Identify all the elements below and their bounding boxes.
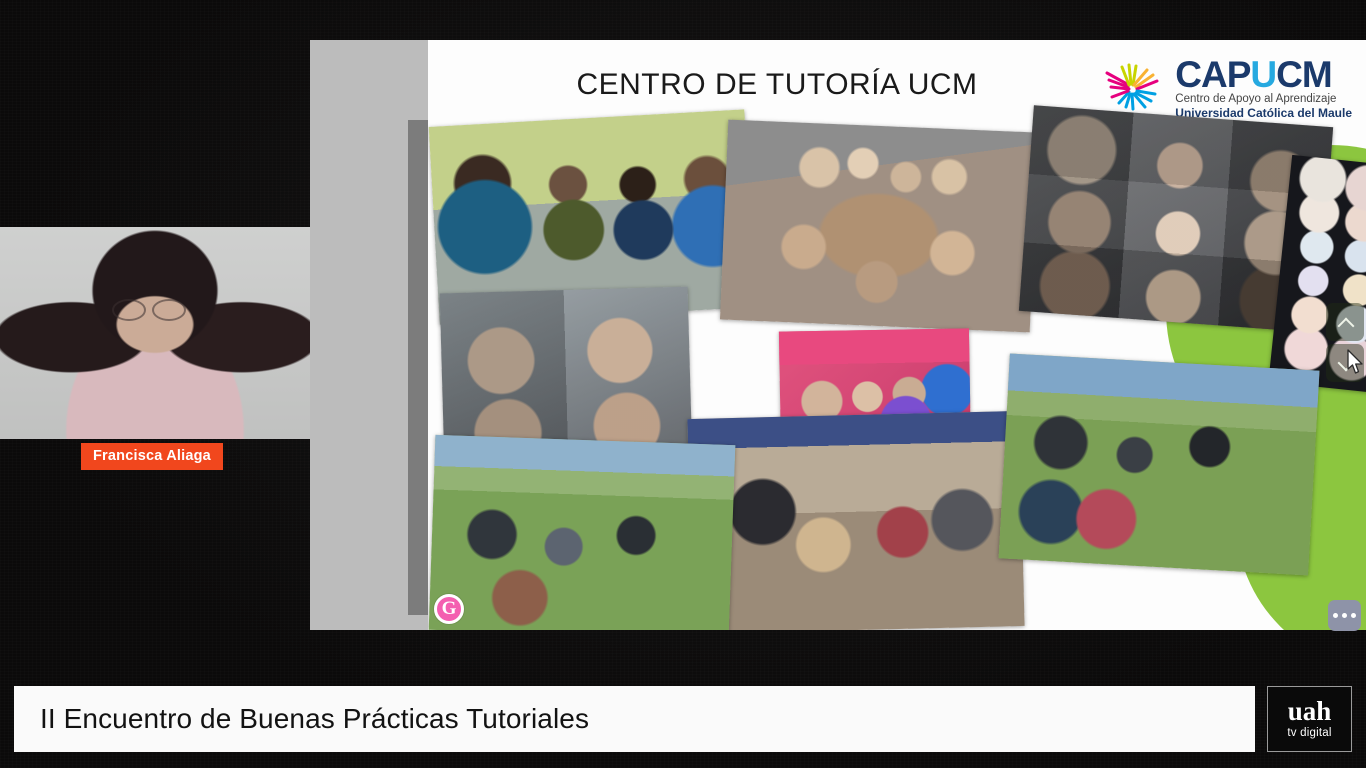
dot-2-icon xyxy=(1342,613,1347,618)
slide-title-text: CENTRO DE TUTORÍA UCM xyxy=(576,68,977,102)
capucm-word-cap: CAP xyxy=(1175,54,1250,95)
capucm-word-cm: CM xyxy=(1276,54,1332,95)
uah-subtitle: tv digital xyxy=(1287,727,1331,739)
uah-wordmark: uah xyxy=(1288,699,1332,725)
capucm-mark-icon xyxy=(1103,61,1165,113)
scroll-down-button[interactable] xyxy=(1326,344,1364,382)
chevron-up-icon xyxy=(1338,315,1353,330)
webcam-video-frame xyxy=(0,227,310,439)
collage-photo-campus-lawn-2 xyxy=(429,435,736,630)
more-options-button[interactable] xyxy=(1328,600,1361,631)
slide-canvas: CENTRO DE TUTORÍA UCM xyxy=(428,40,1366,630)
collage-photo-floor-activity xyxy=(720,120,1038,333)
capucm-word-u: U xyxy=(1250,54,1276,95)
capucm-logo: CAPUCM Centro de Apoyo al Aprendizaje Un… xyxy=(1103,56,1352,119)
banner-title-text: II Encuentro de Buenas Prácticas Tutoria… xyxy=(14,703,589,735)
glasses-left-icon xyxy=(112,299,146,321)
participant-name-badge: Francisca Aliaga xyxy=(81,443,223,470)
collage-photo-campus-lawn-1 xyxy=(999,354,1320,576)
uah-tv-digital-logo: uah tv digital xyxy=(1267,686,1352,752)
chevron-down-icon xyxy=(1338,356,1353,371)
webcam-tile-francisca-aliaga[interactable] xyxy=(0,227,310,439)
scroll-up-button[interactable] xyxy=(1326,303,1364,341)
capucm-wordmark: CAPUCM Centro de Apoyo al Aprendizaje Un… xyxy=(1175,56,1352,119)
capucm-subtitle-1: Centro de Apoyo al Aprendizaje xyxy=(1175,94,1352,106)
slide-vertical-bar xyxy=(408,120,430,615)
broadcast-stage: CENTRO DE TUTORÍA UCM xyxy=(0,0,1366,768)
dot-1-icon xyxy=(1333,613,1338,618)
glasses-right-icon xyxy=(152,299,186,321)
shared-screen-region[interactable]: CENTRO DE TUTORÍA UCM xyxy=(310,40,1366,630)
collage-photo-lecture-room xyxy=(687,411,1024,630)
pink-circle-logo-icon: G xyxy=(434,594,464,624)
lower-third-banner: II Encuentro de Buenas Prácticas Tutoria… xyxy=(14,686,1255,752)
dot-3-icon xyxy=(1351,613,1356,618)
